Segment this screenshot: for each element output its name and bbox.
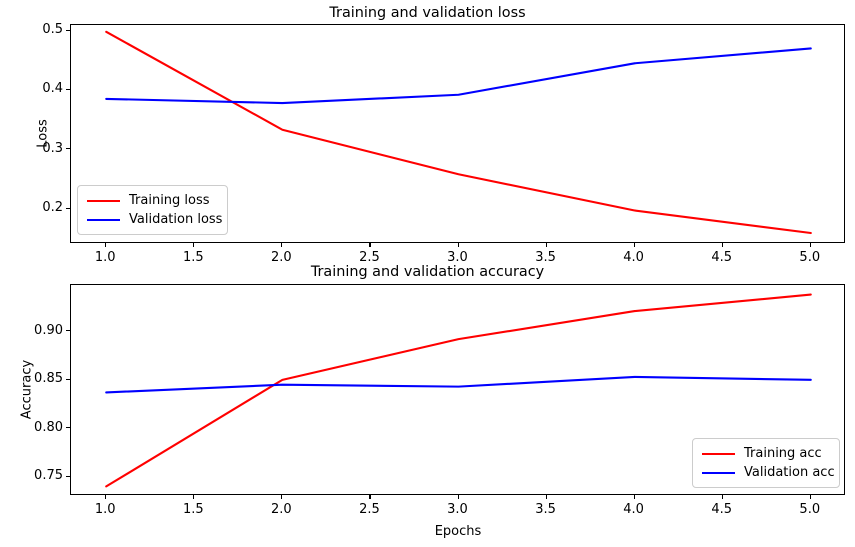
- x-tick-label: 5.0: [770, 503, 850, 516]
- x-tick-label: 1.5: [153, 251, 233, 264]
- legend-item-training-acc: Training acc: [702, 445, 830, 462]
- accuracy-chart-title: Training and validation accuracy: [0, 265, 855, 279]
- y-tick-label: 0.3: [0, 142, 63, 155]
- x-tick-label: 3.5: [506, 503, 586, 516]
- x-tick-label: 4.5: [682, 503, 762, 516]
- x-tick-mark: [634, 495, 635, 499]
- x-tick-mark: [105, 495, 106, 499]
- x-tick-label: 4.0: [594, 251, 674, 264]
- series-line-validation-loss: [106, 48, 811, 103]
- accuracy-y-axis-label: Accuracy: [21, 340, 34, 440]
- x-tick-mark: [810, 243, 811, 247]
- series-line-validation-acc: [106, 377, 811, 393]
- x-tick-label: 2.5: [329, 503, 409, 516]
- x-tick-mark: [105, 243, 106, 247]
- x-tick-mark: [281, 243, 282, 247]
- x-tick-label: 1.0: [65, 251, 145, 264]
- x-tick-mark: [458, 243, 459, 247]
- legend-label-training-acc: Training acc: [744, 447, 822, 460]
- legend-label-validation-acc: Validation acc: [744, 466, 835, 479]
- x-tick-mark: [810, 495, 811, 499]
- legend-label-validation-loss: Validation loss: [129, 213, 222, 226]
- x-tick-mark: [193, 495, 194, 499]
- y-tick-mark: [66, 148, 70, 149]
- y-tick-mark: [66, 208, 70, 209]
- x-tick-label: 4.5: [682, 251, 762, 264]
- y-tick-mark: [66, 427, 70, 428]
- x-tick-label: 2.0: [241, 503, 321, 516]
- loss-legend: Training loss Validation loss: [77, 185, 228, 235]
- y-tick-label: 0.90: [0, 324, 63, 337]
- y-tick-mark: [66, 379, 70, 380]
- x-tick-mark: [722, 495, 723, 499]
- matplotlib-figure: Training and validation loss 1.01.52.02.…: [0, 0, 855, 547]
- y-tick-label: 0.75: [0, 469, 63, 482]
- loss-chart-title: Training and validation loss: [0, 6, 855, 20]
- y-tick-label: 0.2: [0, 201, 63, 214]
- legend-item-validation-loss: Validation loss: [87, 211, 218, 228]
- x-tick-mark: [546, 243, 547, 247]
- x-tick-mark: [369, 495, 370, 499]
- x-tick-mark: [722, 243, 723, 247]
- x-tick-label: 2.0: [241, 251, 321, 264]
- x-tick-mark: [546, 495, 547, 499]
- accuracy-legend: Training acc Validation acc: [692, 438, 840, 488]
- x-tick-mark: [458, 495, 459, 499]
- loss-y-axis-label: Loss: [37, 84, 50, 184]
- legend-item-validation-acc: Validation acc: [702, 464, 830, 481]
- validation-acc-color-swatch: [702, 472, 735, 474]
- y-tick-mark: [66, 30, 70, 31]
- training-loss-color-swatch: [87, 200, 120, 202]
- training-acc-color-swatch: [702, 453, 735, 455]
- x-tick-label: 3.5: [506, 251, 586, 264]
- x-tick-label: 1.0: [65, 503, 145, 516]
- x-tick-mark: [634, 243, 635, 247]
- x-tick-label: 4.0: [594, 503, 674, 516]
- y-tick-label: 0.5: [0, 23, 63, 36]
- legend-item-training-loss: Training loss: [87, 192, 218, 209]
- x-tick-label: 3.0: [418, 503, 498, 516]
- y-tick-mark: [66, 476, 70, 477]
- x-tick-label: 5.0: [770, 251, 850, 264]
- accuracy-x-axis-label: Epochs: [408, 525, 508, 538]
- y-tick-mark: [66, 330, 70, 331]
- y-tick-label: 0.4: [0, 82, 63, 95]
- x-tick-label: 1.5: [153, 503, 233, 516]
- y-tick-mark: [66, 89, 70, 90]
- validation-loss-color-swatch: [87, 219, 120, 221]
- x-tick-label: 2.5: [329, 251, 409, 264]
- legend-label-training-loss: Training loss: [129, 194, 210, 207]
- x-tick-mark: [369, 243, 370, 247]
- x-tick-mark: [281, 495, 282, 499]
- x-tick-label: 3.0: [418, 251, 498, 264]
- x-tick-mark: [193, 243, 194, 247]
